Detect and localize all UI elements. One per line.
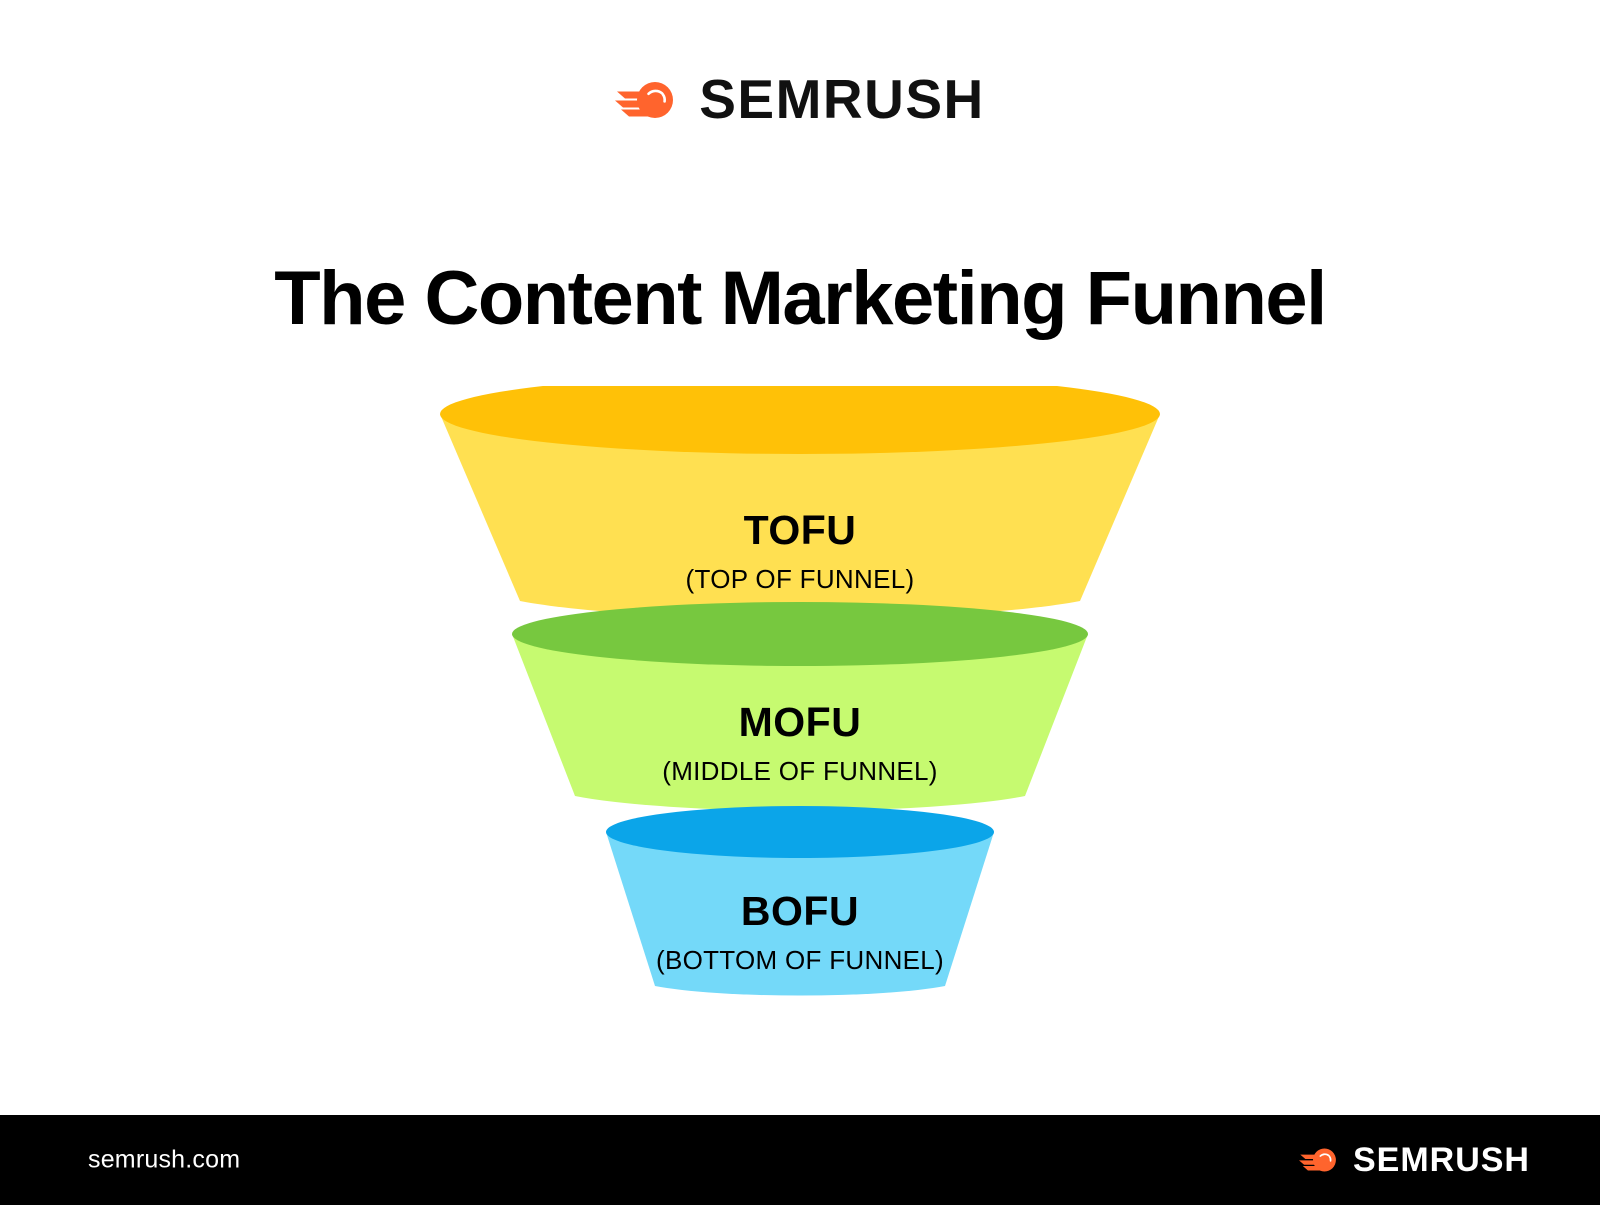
content-marketing-funnel-diagram: TOFU (TOP OF FUNNEL) MOFU (MIDDLE OF FUN…: [400, 386, 1200, 1026]
funnel-stage-mofu-top-ellipse: [512, 602, 1088, 666]
footer-website-url[interactable]: semrush.com: [88, 1146, 240, 1175]
footer-brand-wordmark: SEMRUSH: [1353, 1143, 1530, 1177]
funnel-stage-bofu: [606, 806, 994, 996]
brand-logo-footer: SEMRUSH: [1299, 1143, 1530, 1177]
funnel-stage-tofu: [440, 386, 1160, 619]
brand-logo-header: SEMRUSH: [0, 72, 1600, 127]
page-title: The Content Marketing Funnel: [0, 257, 1600, 341]
funnel-stage-bofu-top-ellipse: [606, 806, 994, 858]
semrush-comet-icon: [1299, 1144, 1341, 1176]
footer-bar: semrush.com SEMRUSH: [0, 1115, 1600, 1205]
semrush-comet-icon: [615, 75, 681, 125]
funnel-stage-mofu: [512, 602, 1088, 811]
brand-wordmark: SEMRUSH: [699, 72, 985, 127]
